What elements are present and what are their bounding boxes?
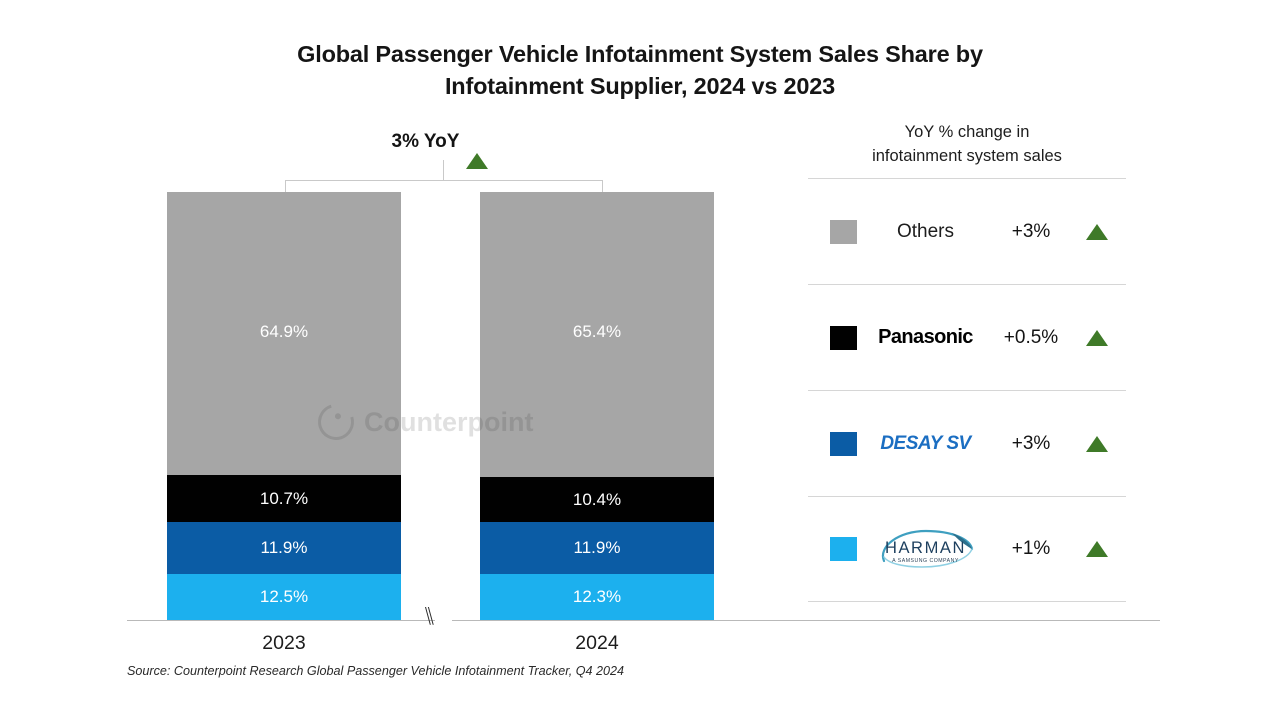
legend-title: YoY % change in infotainment system sale… [808,120,1126,178]
desay-sv-logo-icon: DESAY SV [880,433,970,455]
axis-break-icon: \\ [425,601,431,632]
bar-segment-label: 11.9% [261,538,308,558]
bar-segment-label: 65.4% [480,322,714,342]
x-tick-label-2023: 2023 [167,632,401,655]
legend-change-others: +3% [994,221,1068,243]
triangle-up-icon [1068,541,1126,557]
harman-logo-icon: HARMAN A SAMSUNG COMPANY [864,523,988,575]
legend-swatch-harman [830,537,857,561]
x-axis-line-right [452,620,1160,621]
legend-swatch-panasonic [830,326,857,350]
bar-segment-label: 64.9% [167,322,401,342]
bar-segment-label: 11.9% [574,538,621,558]
bar-segment-label: 10.4% [573,490,621,510]
legend-change-harman: +1% [994,538,1068,560]
legend-title-line-1: YoY % change in [905,123,1030,141]
bar-segment-harman-2024[interactable]: 12.3% [480,574,714,620]
legend-brand-desay: DESAY SV [857,433,994,455]
x-tick-label-2024: 2024 [480,632,714,655]
harman-wordmark: HARMAN [864,539,988,558]
bar-segment-others-2024[interactable]: 65.4% [480,192,714,477]
bar-segment-label: 12.3% [573,587,621,607]
legend-brand-label: Others [897,221,954,243]
bar-segment-others-2023[interactable]: 64.9% [167,192,401,475]
legend-change-panasonic: +0.5% [994,327,1068,349]
chart-plot-area: Counterpoint 64.9% 10.7% 11.9% 12.5% 65.… [0,0,790,720]
legend-row-desay[interactable]: DESAY SV +3% [808,390,1126,496]
legend-change-desay: +3% [994,433,1068,455]
triangle-up-icon [1068,224,1126,240]
bar-segment-harman-2023[interactable]: 12.5% [167,574,401,620]
bar-segment-desay-2024[interactable]: 11.9% [480,522,714,574]
legend-row-others[interactable]: Others +3% [808,178,1126,284]
legend-row-panasonic[interactable]: Panasonic +0.5% [808,284,1126,390]
bar-segment-desay-2023[interactable]: 11.9% [167,522,401,574]
bar-segment-label: 12.5% [260,587,308,607]
panasonic-logo-icon: Panasonic [878,326,973,349]
legend-row-harman[interactable]: HARMAN A SAMSUNG COMPANY +1% [808,496,1126,602]
legend-swatch-others [830,220,857,244]
legend-brand-panasonic: Panasonic [857,326,994,349]
legend-title-line-2: infotainment system sales [808,144,1126,168]
harman-subtitle: A SAMSUNG COMPANY [864,558,988,564]
bar-segment-panasonic-2023[interactable]: 10.7% [167,475,401,522]
source-note: Source: Counterpoint Research Global Pas… [127,664,624,678]
legend-swatch-desay [830,432,857,456]
x-axis-line-left [127,620,435,621]
bar-segment-label: 10.7% [260,489,308,509]
legend-brand-harman: HARMAN A SAMSUNG COMPANY [857,523,994,575]
triangle-up-icon [1068,330,1126,346]
legend-brand-others: Others [857,221,994,243]
legend-panel: YoY % change in infotainment system sale… [808,120,1126,602]
triangle-up-icon [1068,436,1126,452]
bar-segment-panasonic-2024[interactable]: 10.4% [480,477,714,522]
